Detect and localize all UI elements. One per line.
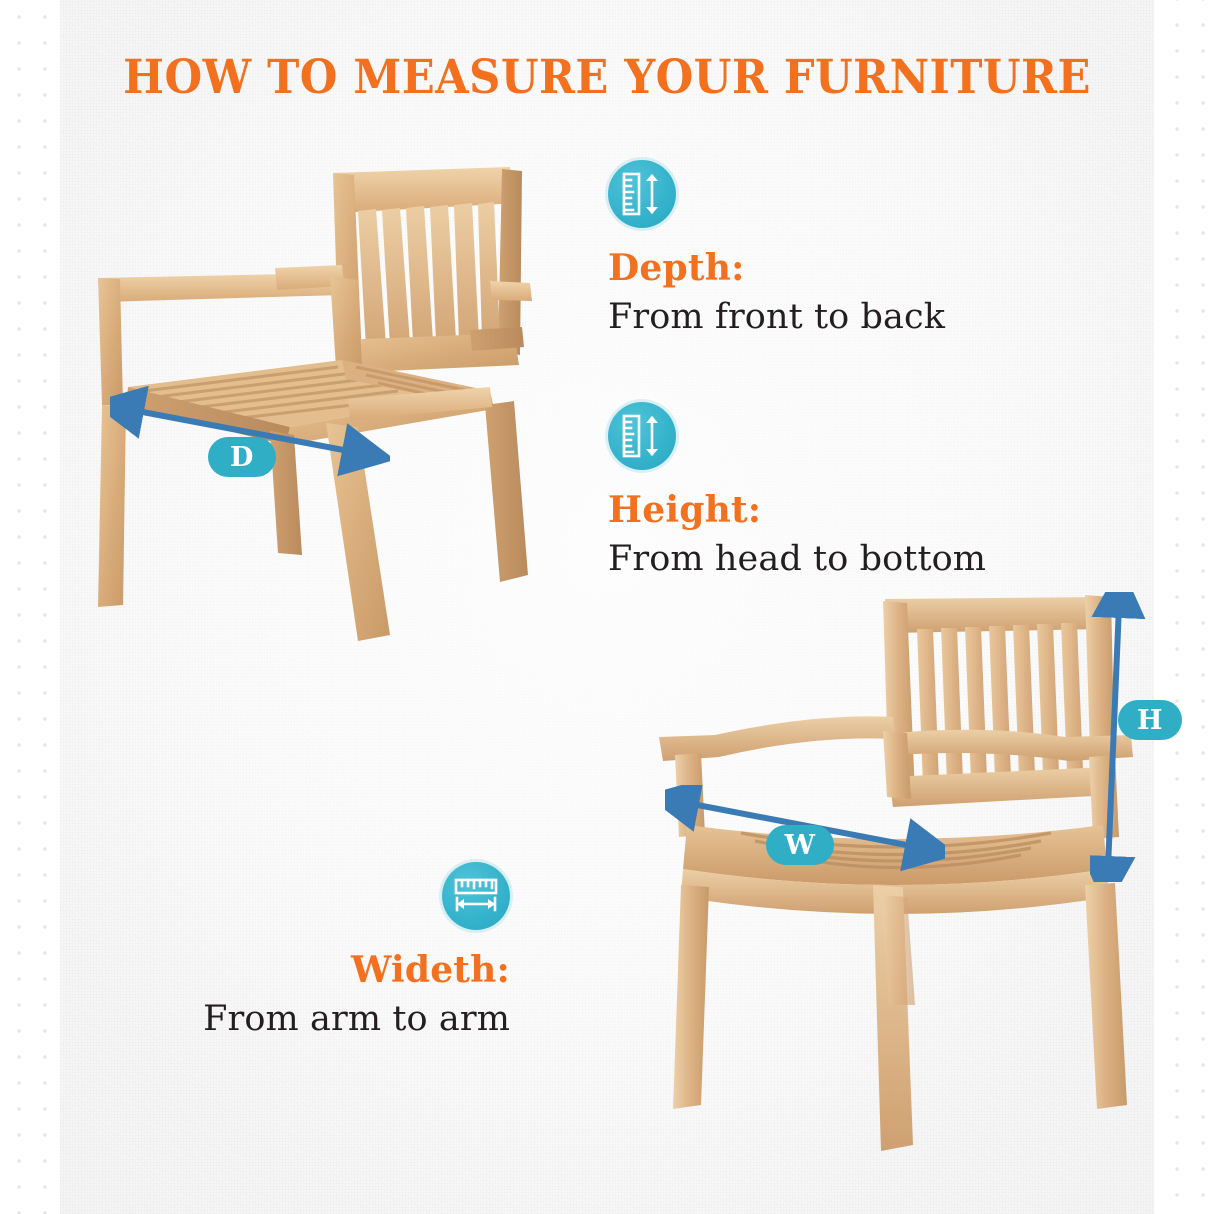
info-heading-height: Height: — [608, 492, 1058, 528]
left-dot-border — [0, 0, 60, 1214]
info-subline-height: From head to bottom — [608, 540, 1058, 579]
page-title: HOW TO MEASURE YOUR FURNITURE — [49, 50, 1166, 105]
infographic-canvas: HOW TO MEASURE YOUR FURNITURE — [0, 0, 1214, 1214]
info-block-width: Wideth: From arm to arm — [150, 862, 510, 1039]
info-subline-width: From arm to arm — [150, 1000, 510, 1039]
info-subline-depth: From front to back — [608, 298, 1038, 337]
horizontal-ruler-icon — [442, 862, 510, 930]
height-dimension-badge: H — [1118, 700, 1182, 740]
vertical-ruler-icon — [608, 160, 676, 228]
width-dimension-badge: W — [766, 825, 834, 865]
info-heading-width: Wideth: — [150, 952, 510, 988]
vertical-ruler-icon — [608, 402, 676, 470]
chair-back — [883, 595, 1115, 807]
depth-dimension-badge: D — [208, 437, 276, 477]
info-block-height: Height: From head to bottom — [608, 402, 1058, 579]
right-dot-border — [1154, 0, 1214, 1214]
info-heading-depth: Depth: — [608, 250, 1038, 286]
chair-front-illustration — [645, 585, 1145, 1205]
info-block-depth: Depth: From front to back — [608, 160, 1038, 337]
chair-legs — [673, 883, 1127, 1151]
